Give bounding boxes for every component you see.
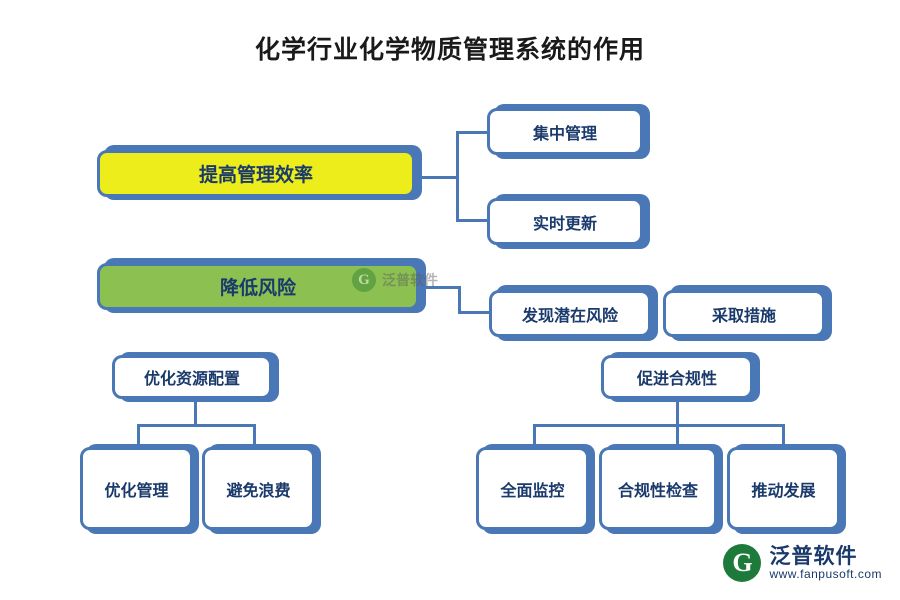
- connector-compliance-drop-3: [782, 424, 785, 446]
- brand-url: www.fanpusoft.com: [769, 568, 882, 581]
- node-find-risk[interactable]: 发现潜在风险: [489, 290, 651, 337]
- connector-risk-vertical: [458, 286, 461, 314]
- connector-compliance-drop-1: [533, 424, 536, 446]
- node-label-promote-compliance: 促进合规性: [637, 365, 717, 389]
- node-optimize-mgmt[interactable]: 优化管理: [80, 447, 193, 530]
- watermark-logo-icon: G: [352, 268, 376, 292]
- connector-efficiency-to-centralized: [456, 131, 488, 134]
- connector-resource-bar: [137, 424, 256, 427]
- connector-compliance-drop-2: [676, 424, 679, 446]
- connector-resource-left-drop: [137, 424, 140, 446]
- connector-efficiency-vertical: [456, 131, 459, 222]
- node-label-avoid-waste: 避免浪费: [226, 477, 290, 501]
- connector-efficiency-trunk: [416, 176, 458, 179]
- brand-text-block: 泛普软件 www.fanpusoft.com: [769, 545, 882, 581]
- brand-logo: G 泛普软件 www.fanpusoft.com: [723, 544, 882, 582]
- connector-compliance-bar: [533, 424, 785, 427]
- node-promote-dev[interactable]: 推动发展: [727, 447, 840, 530]
- node-full-monitor[interactable]: 全面监控: [476, 447, 589, 530]
- node-label-full-monitor: 全面监控: [500, 477, 564, 501]
- node-label-optimize-mgmt: 优化管理: [104, 477, 168, 501]
- node-optimize-resource[interactable]: 优化资源配置: [112, 355, 272, 399]
- connector-risk-to-find: [458, 311, 490, 314]
- node-improve-efficiency[interactable]: 提高管理效率: [97, 150, 415, 197]
- node-label-reduce-risk: 降低风险: [220, 273, 296, 300]
- watermark-center: G 泛普软件: [352, 268, 438, 292]
- node-label-take-action: 采取措施: [712, 302, 776, 326]
- node-label-compliance-check: 合规性检查: [618, 477, 698, 501]
- watermark-text: 泛普软件: [382, 270, 438, 290]
- node-realtime[interactable]: 实时更新: [487, 198, 643, 245]
- node-label-centralized: 集中管理: [533, 120, 597, 144]
- node-label-optimize-resource: 优化资源配置: [144, 365, 240, 389]
- page-title: 化学行业化学物质管理系统的作用: [0, 30, 900, 66]
- diagram-canvas: 化学行业化学物质管理系统的作用 提高管理效率 集中管理 实时更新 降低风险 发现…: [0, 0, 900, 600]
- node-label-improve-efficiency: 提高管理效率: [199, 160, 313, 187]
- node-compliance-check[interactable]: 合规性检查: [599, 447, 717, 530]
- brand-logo-icon: G: [723, 544, 761, 582]
- connector-resource-right-drop: [253, 424, 256, 446]
- connector-efficiency-to-realtime: [456, 219, 488, 222]
- node-centralized[interactable]: 集中管理: [487, 108, 643, 155]
- node-label-realtime: 实时更新: [533, 210, 597, 234]
- node-label-find-risk: 发现潜在风险: [522, 302, 618, 326]
- brand-name: 泛普软件: [769, 545, 882, 568]
- node-label-promote-dev: 推动发展: [751, 477, 815, 501]
- node-promote-compliance[interactable]: 促进合规性: [601, 355, 753, 399]
- node-take-action[interactable]: 采取措施: [663, 290, 825, 337]
- node-avoid-waste[interactable]: 避免浪费: [202, 447, 315, 530]
